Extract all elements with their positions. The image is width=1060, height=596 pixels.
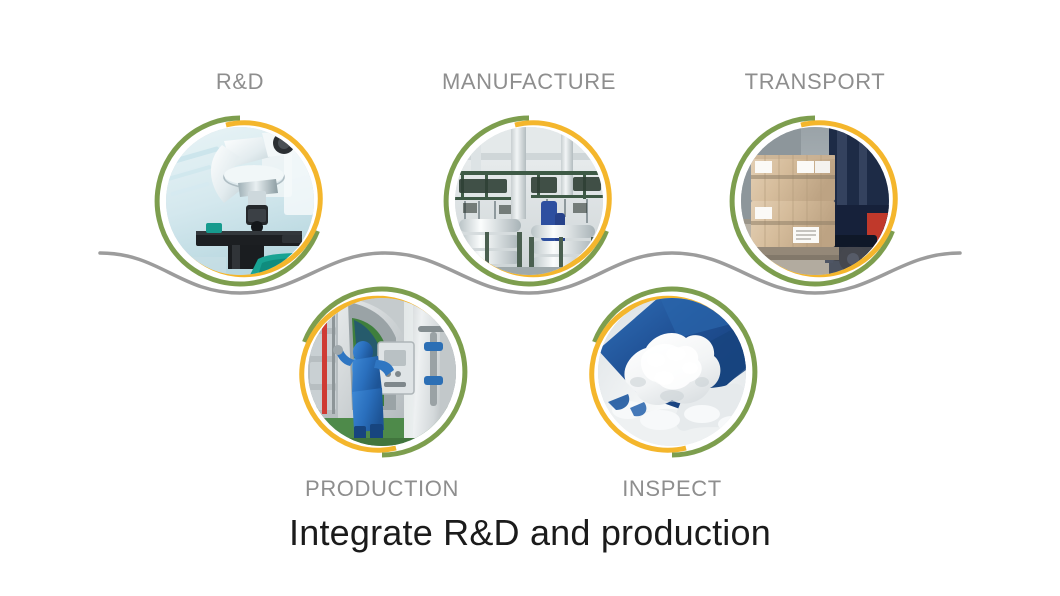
step-photo-transport [741,127,889,275]
step-node-rd[interactable]: R&D [152,113,328,289]
step-node-transport[interactable]: TRANSPORT [727,113,903,289]
step-label-inspect: INSPECT [507,476,837,502]
step-photo-rd [166,127,314,275]
step-photo-production [308,298,456,446]
step-photo-inspect [598,298,746,446]
step-label-production: PRODUCTION [217,476,547,502]
infographic-canvas: R&D [0,0,1060,596]
step-photo-manufacture [455,127,603,275]
step-label-transport: TRANSPORT [650,69,980,95]
step-node-production[interactable]: PRODUCTION [294,284,470,460]
step-label-manufacture: MANUFACTURE [364,69,694,95]
step-label-rd: R&D [75,69,405,95]
step-node-manufacture[interactable]: MANUFACTURE [441,113,617,289]
step-node-inspect[interactable]: INSPECT [584,284,760,460]
page-headline: Integrate R&D and production [0,512,1060,554]
